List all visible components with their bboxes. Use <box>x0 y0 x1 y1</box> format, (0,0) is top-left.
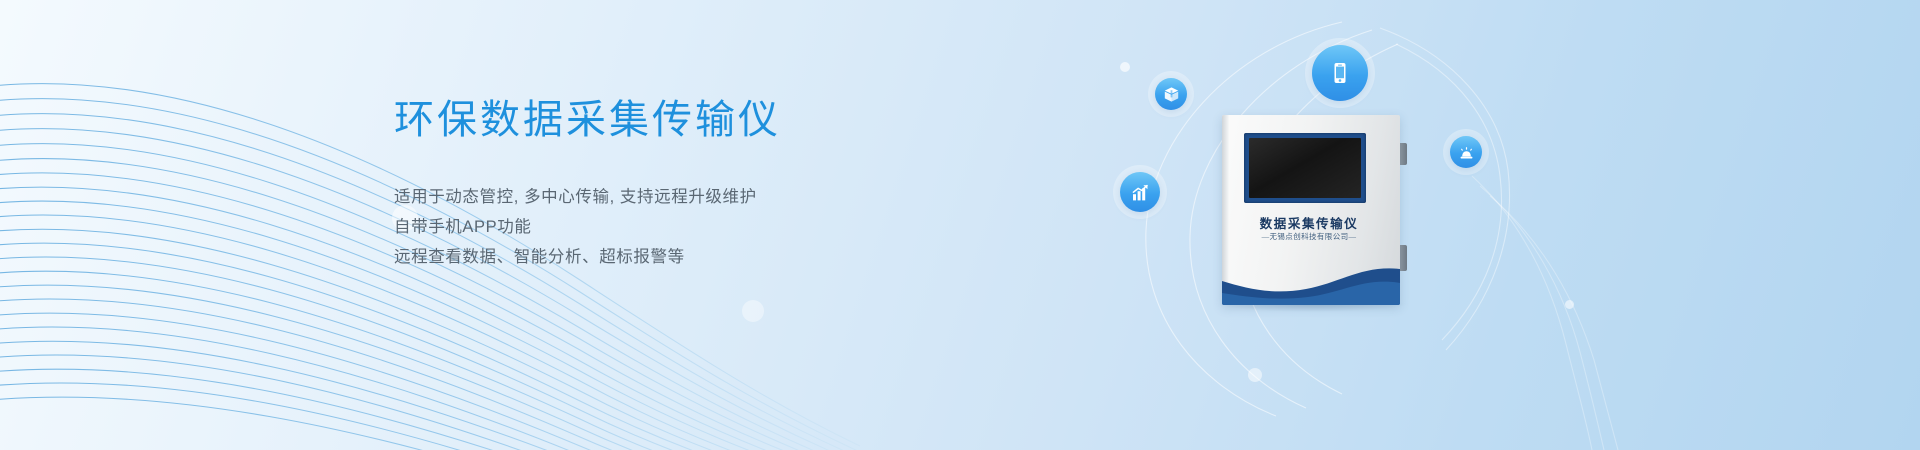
product-banner: 环保数据采集传输仪 适用于动态管控, 多中心传输, 支持远程升级维护 自带手机A… <box>0 0 1920 450</box>
cube-icon <box>1163 86 1180 103</box>
connector-arcs <box>1080 0 1780 450</box>
feature-bubble-data-analysis[interactable] <box>1120 172 1160 212</box>
banner-copy: 环保数据采集传输仪 适用于动态管控, 多中心传输, 支持远程升级维护 自带手机A… <box>394 96 914 272</box>
product-device: 数据采集传输仪 —无锡点创科技有限公司— <box>1222 115 1400 305</box>
feature-line-3: 远程查看数据、智能分析、超标报警等 <box>394 242 914 272</box>
device-body: 数据采集传输仪 —无锡点创科技有限公司— <box>1222 115 1400 305</box>
alarm-icon <box>1458 144 1475 161</box>
product-scene: 数据采集传输仪 —无锡点创科技有限公司— <box>1080 0 1780 450</box>
phone-icon <box>1327 60 1353 86</box>
device-wave-graphic <box>1222 263 1400 305</box>
banner-headline: 环保数据采集传输仪 <box>394 96 914 144</box>
feature-bubble-mobile-app[interactable] <box>1312 45 1368 101</box>
feature-line-1: 适用于动态管控, 多中心传输, 支持远程升级维护 <box>394 182 914 212</box>
device-label: 数据采集传输仪 <box>1234 213 1384 232</box>
banner-feature-list: 适用于动态管控, 多中心传输, 支持远程升级维护 自带手机APP功能 远程查看数… <box>394 182 914 272</box>
bokeh-circle <box>742 300 764 322</box>
feature-bubble-package[interactable] <box>1155 78 1187 110</box>
device-screen-frame <box>1244 133 1366 203</box>
feature-bubble-alert[interactable] <box>1450 136 1482 168</box>
device-sublabel: —无锡点创科技有限公司— <box>1234 231 1384 242</box>
feature-line-2: 自带手机APP功能 <box>394 212 914 242</box>
device-screen <box>1249 138 1361 198</box>
chart-icon <box>1130 182 1151 203</box>
